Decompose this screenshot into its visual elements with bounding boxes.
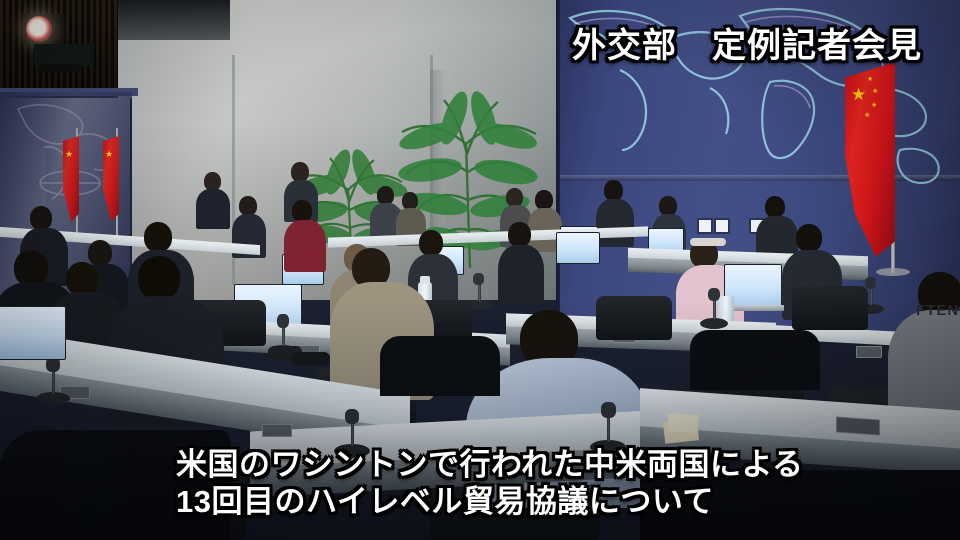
subtitle-line-2: 13回目のハイレベル貿易協議について — [176, 483, 960, 520]
desk-socket — [836, 416, 880, 435]
subtitle-line-1: 米国のワシントンで行われた中米両国による — [176, 446, 960, 483]
flag-star-large: ★ — [105, 150, 113, 159]
hair-band — [690, 238, 726, 246]
desk-microphone-head — [345, 409, 359, 424]
desk-microphone-head — [708, 288, 720, 301]
foreground-shadow — [380, 336, 500, 396]
foreground-shadow — [690, 330, 820, 390]
jacket-text: FTEN — [916, 302, 960, 320]
program-title: 外交部 定例記者会見 — [572, 27, 922, 65]
flag-star-large: ★ — [65, 150, 73, 159]
flag-star-small: ★ — [864, 112, 870, 119]
flag-stand — [876, 268, 910, 276]
headphone-set — [292, 352, 330, 366]
desk-microphone-head — [277, 314, 289, 328]
chair — [596, 296, 672, 340]
flag-star-small: ★ — [872, 88, 878, 95]
flag-star-large: ★ — [851, 86, 866, 103]
program-title-bar: 外交部 定例記者会見 — [0, 18, 960, 67]
wall-square-marker — [697, 218, 713, 234]
flag-star-small: ★ — [871, 102, 877, 109]
chair — [792, 286, 868, 330]
desk-microphone-head — [473, 273, 484, 285]
subtitle-block: 米国のワシントンで行われた中米両国による 13回目のハイレベル貿易協議について — [0, 446, 960, 520]
paper-notes — [667, 413, 698, 433]
desk-microphone-base — [700, 318, 728, 329]
desk-socket — [856, 346, 882, 358]
laptop-screen — [0, 306, 66, 360]
flag-star-small: ★ — [867, 76, 873, 83]
desk-socket — [262, 424, 292, 437]
laptop-screen — [556, 232, 600, 264]
recorder — [196, 346, 220, 358]
desk-microphone-head — [601, 402, 616, 418]
bottle-cap — [420, 276, 430, 284]
desk-microphone-head — [865, 277, 876, 289]
broadcast-frame: ★ ★ ★ ★ ★ ★ ★ — [0, 0, 960, 540]
wall-square-marker — [714, 218, 730, 234]
